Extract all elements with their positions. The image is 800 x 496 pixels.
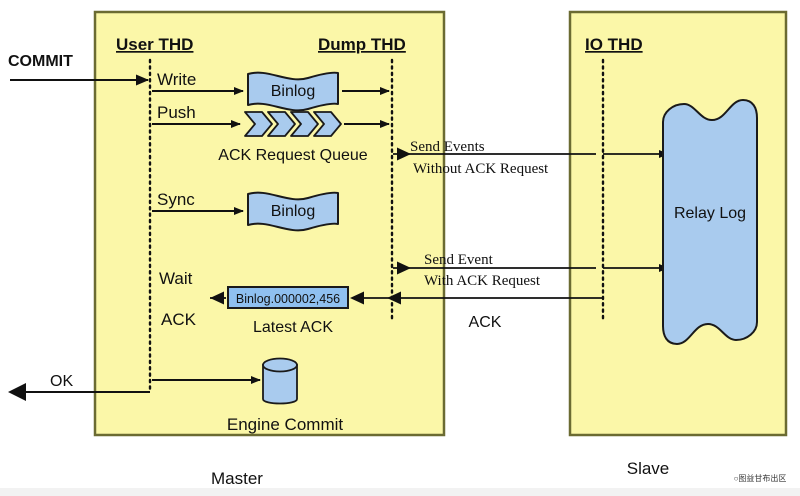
object-label-binlog-sync: Binlog <box>271 203 315 220</box>
lane-label-io-thd: IO THD <box>585 35 643 54</box>
commit-label: COMMIT <box>8 53 73 70</box>
step-label-sync: Sync <box>157 190 195 209</box>
relay-log-shape <box>663 100 757 344</box>
lane-label-dump-thd: Dump THD <box>318 35 406 54</box>
link-label-ack-return: ACK <box>469 314 502 331</box>
object-label-relay-log: Relay Log <box>674 205 746 222</box>
object-label-engine-commit: Engine Commit <box>227 415 343 434</box>
bottom-strip <box>0 488 800 496</box>
step-label-wait: Wait <box>159 269 193 288</box>
step-label-push: Push <box>157 103 196 122</box>
link-label-send-events-line1: Send Events <box>410 139 485 155</box>
diagram-canvas: User THD Dump THD IO THD COMMIT Write Pu… <box>0 0 800 496</box>
caption-master: Master <box>211 469 263 488</box>
step-label-ack: ACK <box>161 310 197 329</box>
step-label-write: Write <box>157 70 196 89</box>
step-label-ok: OK <box>50 373 73 390</box>
object-label-latest-ack: Latest ACK <box>253 319 333 336</box>
ok-exit-arrowhead <box>8 383 26 401</box>
lane-label-user-thd: User THD <box>116 35 193 54</box>
link-label-send-event-ack-line1: Send Event <box>424 252 494 268</box>
diagram-svg: User THD Dump THD IO THD COMMIT Write Pu… <box>0 0 800 496</box>
object-label-latest-ack-value: Binlog.000002,456 <box>236 292 340 306</box>
link-label-send-event-ack-line2: With ACK Request <box>424 273 541 289</box>
watermark: ○图益甘布出区 <box>734 473 787 483</box>
object-label-ack-request-queue: ACK Request Queue <box>218 147 368 164</box>
engine-commit-cylinder <box>263 359 297 404</box>
caption-slave: Slave <box>627 459 670 478</box>
object-label-binlog-write: Binlog <box>271 83 315 100</box>
ack-request-queue-chevrons <box>245 112 341 136</box>
link-label-send-events-line2: Without ACK Request <box>413 161 549 177</box>
